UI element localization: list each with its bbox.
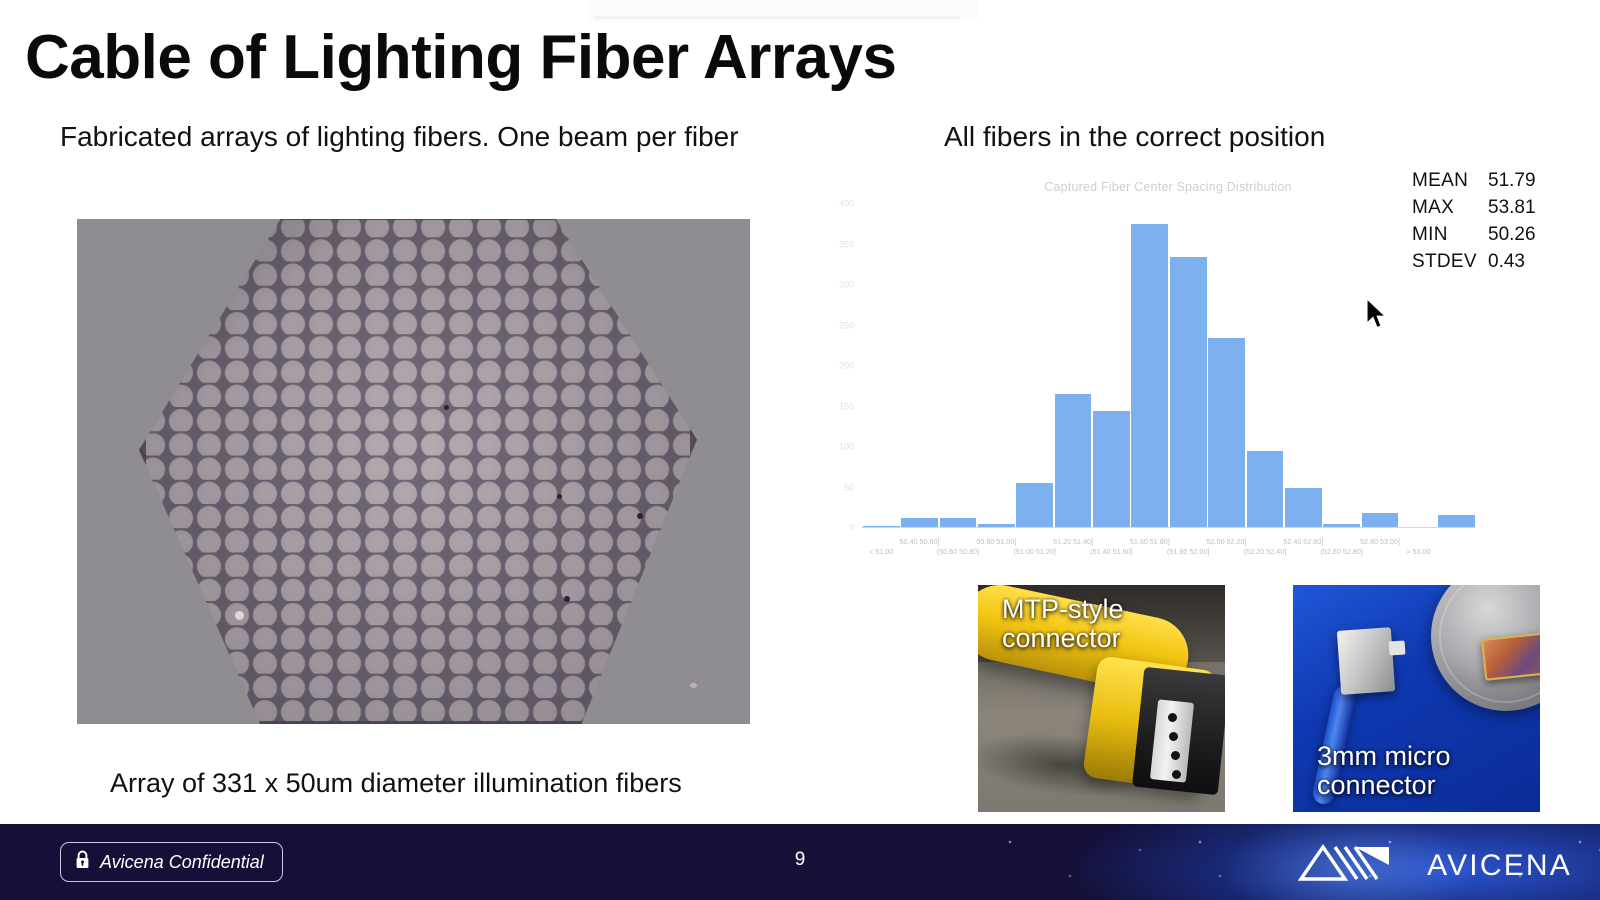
histogram-bar-slot <box>1207 204 1245 528</box>
photonic-chip <box>1481 631 1540 681</box>
x-axis-tick-label: 52.00 52.20] <box>1207 538 1247 546</box>
hexagon-fiber-bundle <box>139 219 697 724</box>
histogram-bar <box>1055 394 1092 528</box>
x-axis-tick-label: (51.40 51.60] <box>1090 548 1132 556</box>
x-axis-tick-label: 51.60 51.80] <box>1130 538 1170 546</box>
x-axis-tick: (51.80 52.00] <box>1169 530 1207 576</box>
statistic-row: MEAN51.79 <box>1412 168 1536 195</box>
histogram-bar <box>1016 483 1053 528</box>
histogram-bar-slot <box>900 204 938 528</box>
histogram-bar <box>1093 411 1130 528</box>
histogram-bar <box>1247 451 1284 528</box>
avicena-wordmark: AVICENA <box>1427 849 1572 883</box>
defect-speck <box>564 596 570 602</box>
statistic-row: STDEV0.43 <box>1412 249 1536 276</box>
defect-speck <box>444 405 449 410</box>
y-axis-tick-label: 300 <box>839 281 854 290</box>
chart-x-axis: < 51.0050.40 50.60](50.60 50.80]50.80 51… <box>862 530 1476 576</box>
micro-connector-photo: 3mm microconnector <box>1293 585 1540 812</box>
x-axis-tick: 50.80 51.00] <box>977 530 1015 576</box>
statistic-value: 51.79 <box>1488 168 1536 195</box>
x-axis-tick-label: (51.00 51.20] <box>1014 548 1056 556</box>
histogram-bar <box>1131 224 1168 528</box>
x-axis-tick-label: 51.20 51.40] <box>1053 538 1093 546</box>
histogram-bar-slot <box>1323 204 1361 528</box>
histogram-bar-slot <box>939 204 977 528</box>
fiber-array-caption: Array of 331 x 50um diameter illuminatio… <box>110 768 682 799</box>
x-axis-tick: < 51.00 <box>862 530 900 576</box>
chart-plot-area <box>862 204 1476 528</box>
hexagon-edge <box>139 219 697 724</box>
statistic-key: MEAN <box>1412 168 1488 195</box>
x-axis-tick-label: (52.20 52.40] <box>1244 548 1286 556</box>
background-speck <box>690 683 697 688</box>
x-axis-tick: 52.00 52.20] <box>1207 530 1245 576</box>
x-axis-tick: (52.60 52.80] <box>1323 530 1361 576</box>
lock-icon <box>75 850 90 874</box>
histogram-bar-slot <box>1131 204 1169 528</box>
avicena-logo: AVICENA <box>1297 843 1572 888</box>
histogram-bar <box>1170 257 1207 528</box>
x-axis-tick: 51.20 51.40] <box>1054 530 1092 576</box>
statistic-key: MIN <box>1412 222 1488 249</box>
defect-speck <box>557 494 562 499</box>
right-subhead: All fibers in the correct position <box>944 121 1325 153</box>
defect-speck <box>235 611 244 620</box>
ferrule-hole <box>1168 713 1177 722</box>
page-number: 9 <box>795 849 806 871</box>
x-axis-tick: > 53.00 <box>1399 530 1437 576</box>
y-axis-tick-label: 400 <box>839 200 854 209</box>
x-axis-tick-label: > 53.00 <box>1406 548 1430 556</box>
histogram-bar-slot <box>1054 204 1092 528</box>
x-axis-tick: (51.00 51.20] <box>1016 530 1054 576</box>
statistic-row: MAX53.81 <box>1412 195 1536 222</box>
statistic-value: 0.43 <box>1488 249 1525 276</box>
statistics-block: MEAN51.79MAX53.81MIN50.26STDEV0.43 <box>1412 168 1536 276</box>
statistic-row: MIN50.26 <box>1412 222 1536 249</box>
avicena-chevron-logo-icon <box>1297 843 1423 888</box>
x-axis-tick-label: 50.80 51.00] <box>976 538 1016 546</box>
histogram-bar-slot <box>1092 204 1130 528</box>
chart-y-axis: 050100150200250300350400 <box>818 204 858 528</box>
histogram-bar-slot <box>1016 204 1054 528</box>
hexagonal-fiber-array-image <box>77 219 750 724</box>
histogram-bar-slot <box>977 204 1015 528</box>
x-axis-tick-label: (52.60 52.80] <box>1321 548 1363 556</box>
x-axis-tick <box>1438 530 1476 576</box>
slide-footer: Avicena Confidential 9 AVICENA <box>0 824 1600 900</box>
histogram-bar <box>1208 338 1245 528</box>
x-axis-tick-label: (51.80 52.00] <box>1167 548 1209 556</box>
x-axis-tick: (51.40 51.60] <box>1092 530 1130 576</box>
histogram-bar-slot <box>1361 204 1399 528</box>
statistic-value: 53.81 <box>1488 195 1536 222</box>
x-axis-tick: (52.20 52.40] <box>1246 530 1284 576</box>
x-axis-tick-label: 52.80 53.00] <box>1360 538 1400 546</box>
micro-photo-caption: 3mm microconnector <box>1293 742 1540 800</box>
left-subhead: Fabricated arrays of lighting fibers. On… <box>60 121 739 153</box>
y-axis-tick-label: 350 <box>839 240 854 249</box>
page-title: Cable of Lighting Fiber Arrays <box>25 22 896 93</box>
statistic-key: STDEV <box>1412 249 1488 276</box>
statistic-value: 50.26 <box>1488 222 1536 249</box>
x-axis-tick-label: (50.60 50.80] <box>937 548 979 556</box>
histogram-bar-slot <box>862 204 900 528</box>
statistic-key: MAX <box>1412 195 1488 222</box>
micro-connector-body <box>1337 627 1395 695</box>
top-edge-artifact <box>588 0 978 22</box>
mtp-connector-photo: MTP-styleconnector <box>978 585 1225 812</box>
y-axis-tick-label: 50 <box>844 483 854 492</box>
histogram-bar-slot <box>1169 204 1207 528</box>
mtp-photo-caption: MTP-styleconnector <box>978 595 1225 653</box>
mouse-cursor <box>1366 298 1388 330</box>
histogram-bar-slot <box>1284 204 1322 528</box>
histogram-bar-slot <box>1246 204 1284 528</box>
x-axis-tick-label: < 51.00 <box>869 548 893 556</box>
confidential-label: Avicena Confidential <box>100 852 264 873</box>
x-axis-tick-label: 52.40 52.60] <box>1283 538 1323 546</box>
x-axis-tick: 52.40 52.60] <box>1284 530 1322 576</box>
histogram-bar <box>1285 488 1322 529</box>
ferrule-hole <box>1171 751 1180 760</box>
ferrule-hole <box>1169 732 1178 741</box>
x-axis-tick: 50.40 50.60] <box>900 530 938 576</box>
chart-x-axis-line <box>862 527 1476 528</box>
x-axis-tick: 51.60 51.80] <box>1131 530 1169 576</box>
y-axis-tick-label: 200 <box>839 362 854 371</box>
y-axis-tick-label: 250 <box>839 321 854 330</box>
y-axis-tick-label: 100 <box>839 443 854 452</box>
x-axis-tick: 52.80 53.00] <box>1361 530 1399 576</box>
x-axis-tick: (50.60 50.80] <box>939 530 977 576</box>
y-axis-tick-label: 0 <box>849 524 854 533</box>
y-axis-tick-label: 150 <box>839 402 854 411</box>
x-axis-tick-label: 50.40 50.60] <box>900 538 940 546</box>
ferrule-hole <box>1172 770 1181 779</box>
confidentiality-badge: Avicena Confidential <box>60 842 283 882</box>
micro-connector-tab <box>1389 640 1406 655</box>
histogram-bars <box>862 204 1476 528</box>
defect-speck <box>637 513 643 519</box>
